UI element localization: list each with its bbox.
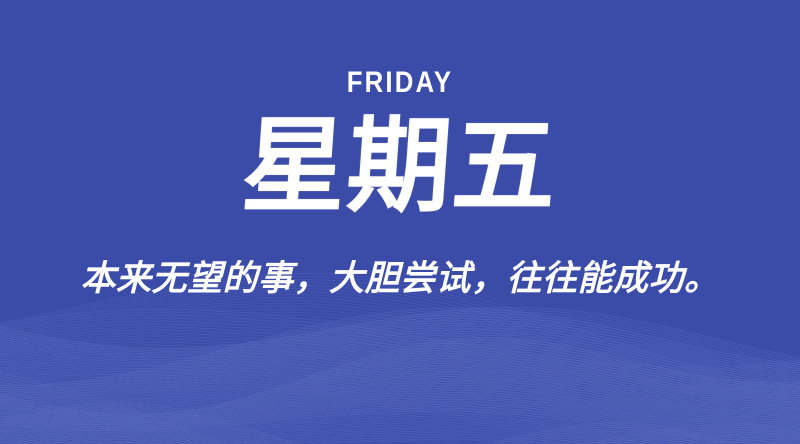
weekday-chinese-title: 星期五	[0, 110, 800, 222]
weekday-english-label: FRIDAY	[56, 68, 744, 98]
daily-quote-text: 本来无望的事，大胆尝试，往往能成功。	[0, 258, 800, 300]
card-content: FRIDAY 星期五 本来无望的事，大胆尝试，往往能成功。	[0, 0, 800, 444]
daily-quote-card: FRIDAY 星期五 本来无望的事，大胆尝试，往往能成功。	[0, 0, 800, 444]
